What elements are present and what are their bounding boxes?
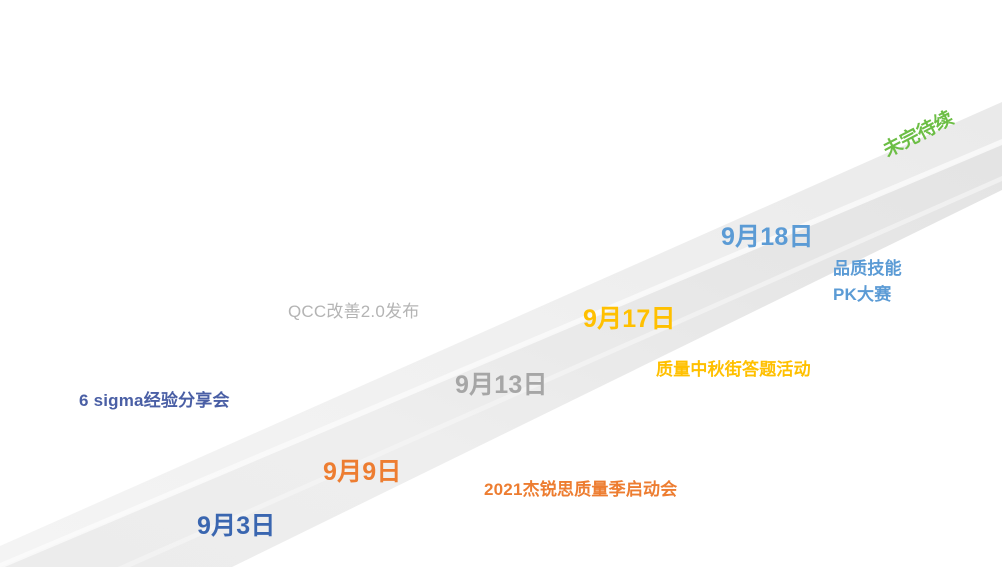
timeline-roadmap-canvas: 6 sigma经验分享会 9月3日 QCC改善2.0发布 9月9日 9月13日 … [0, 0, 1007, 567]
road-edge-highlight [118, 176, 1002, 567]
milestone-event-6sigma: 6 sigma经验分享会 [79, 392, 230, 409]
milestone-date-0913: 9月13日 [455, 373, 548, 398]
milestone-event-quality-season-kickoff: 2021杰锐思质量季启动会 [484, 481, 677, 498]
milestone-event-skills-pk-line1: 品质技能 [833, 256, 902, 282]
milestone-date-0918: 9月18日 [721, 225, 814, 250]
milestone-event-qcc: QCC改善2.0发布 [288, 303, 419, 320]
road-center-line [0, 139, 1002, 567]
milestone-date-0917: 9月17日 [583, 307, 676, 332]
milestone-date-0903: 9月3日 [197, 514, 276, 539]
milestone-date-0909: 9月9日 [323, 460, 402, 485]
milestone-event-skills-pk: 品质技能 PK大赛 [833, 256, 902, 309]
milestone-event-skills-pk-line2: PK大赛 [833, 282, 902, 308]
milestone-event-midautumn-quiz: 质量中秋街答题活动 [656, 361, 811, 378]
